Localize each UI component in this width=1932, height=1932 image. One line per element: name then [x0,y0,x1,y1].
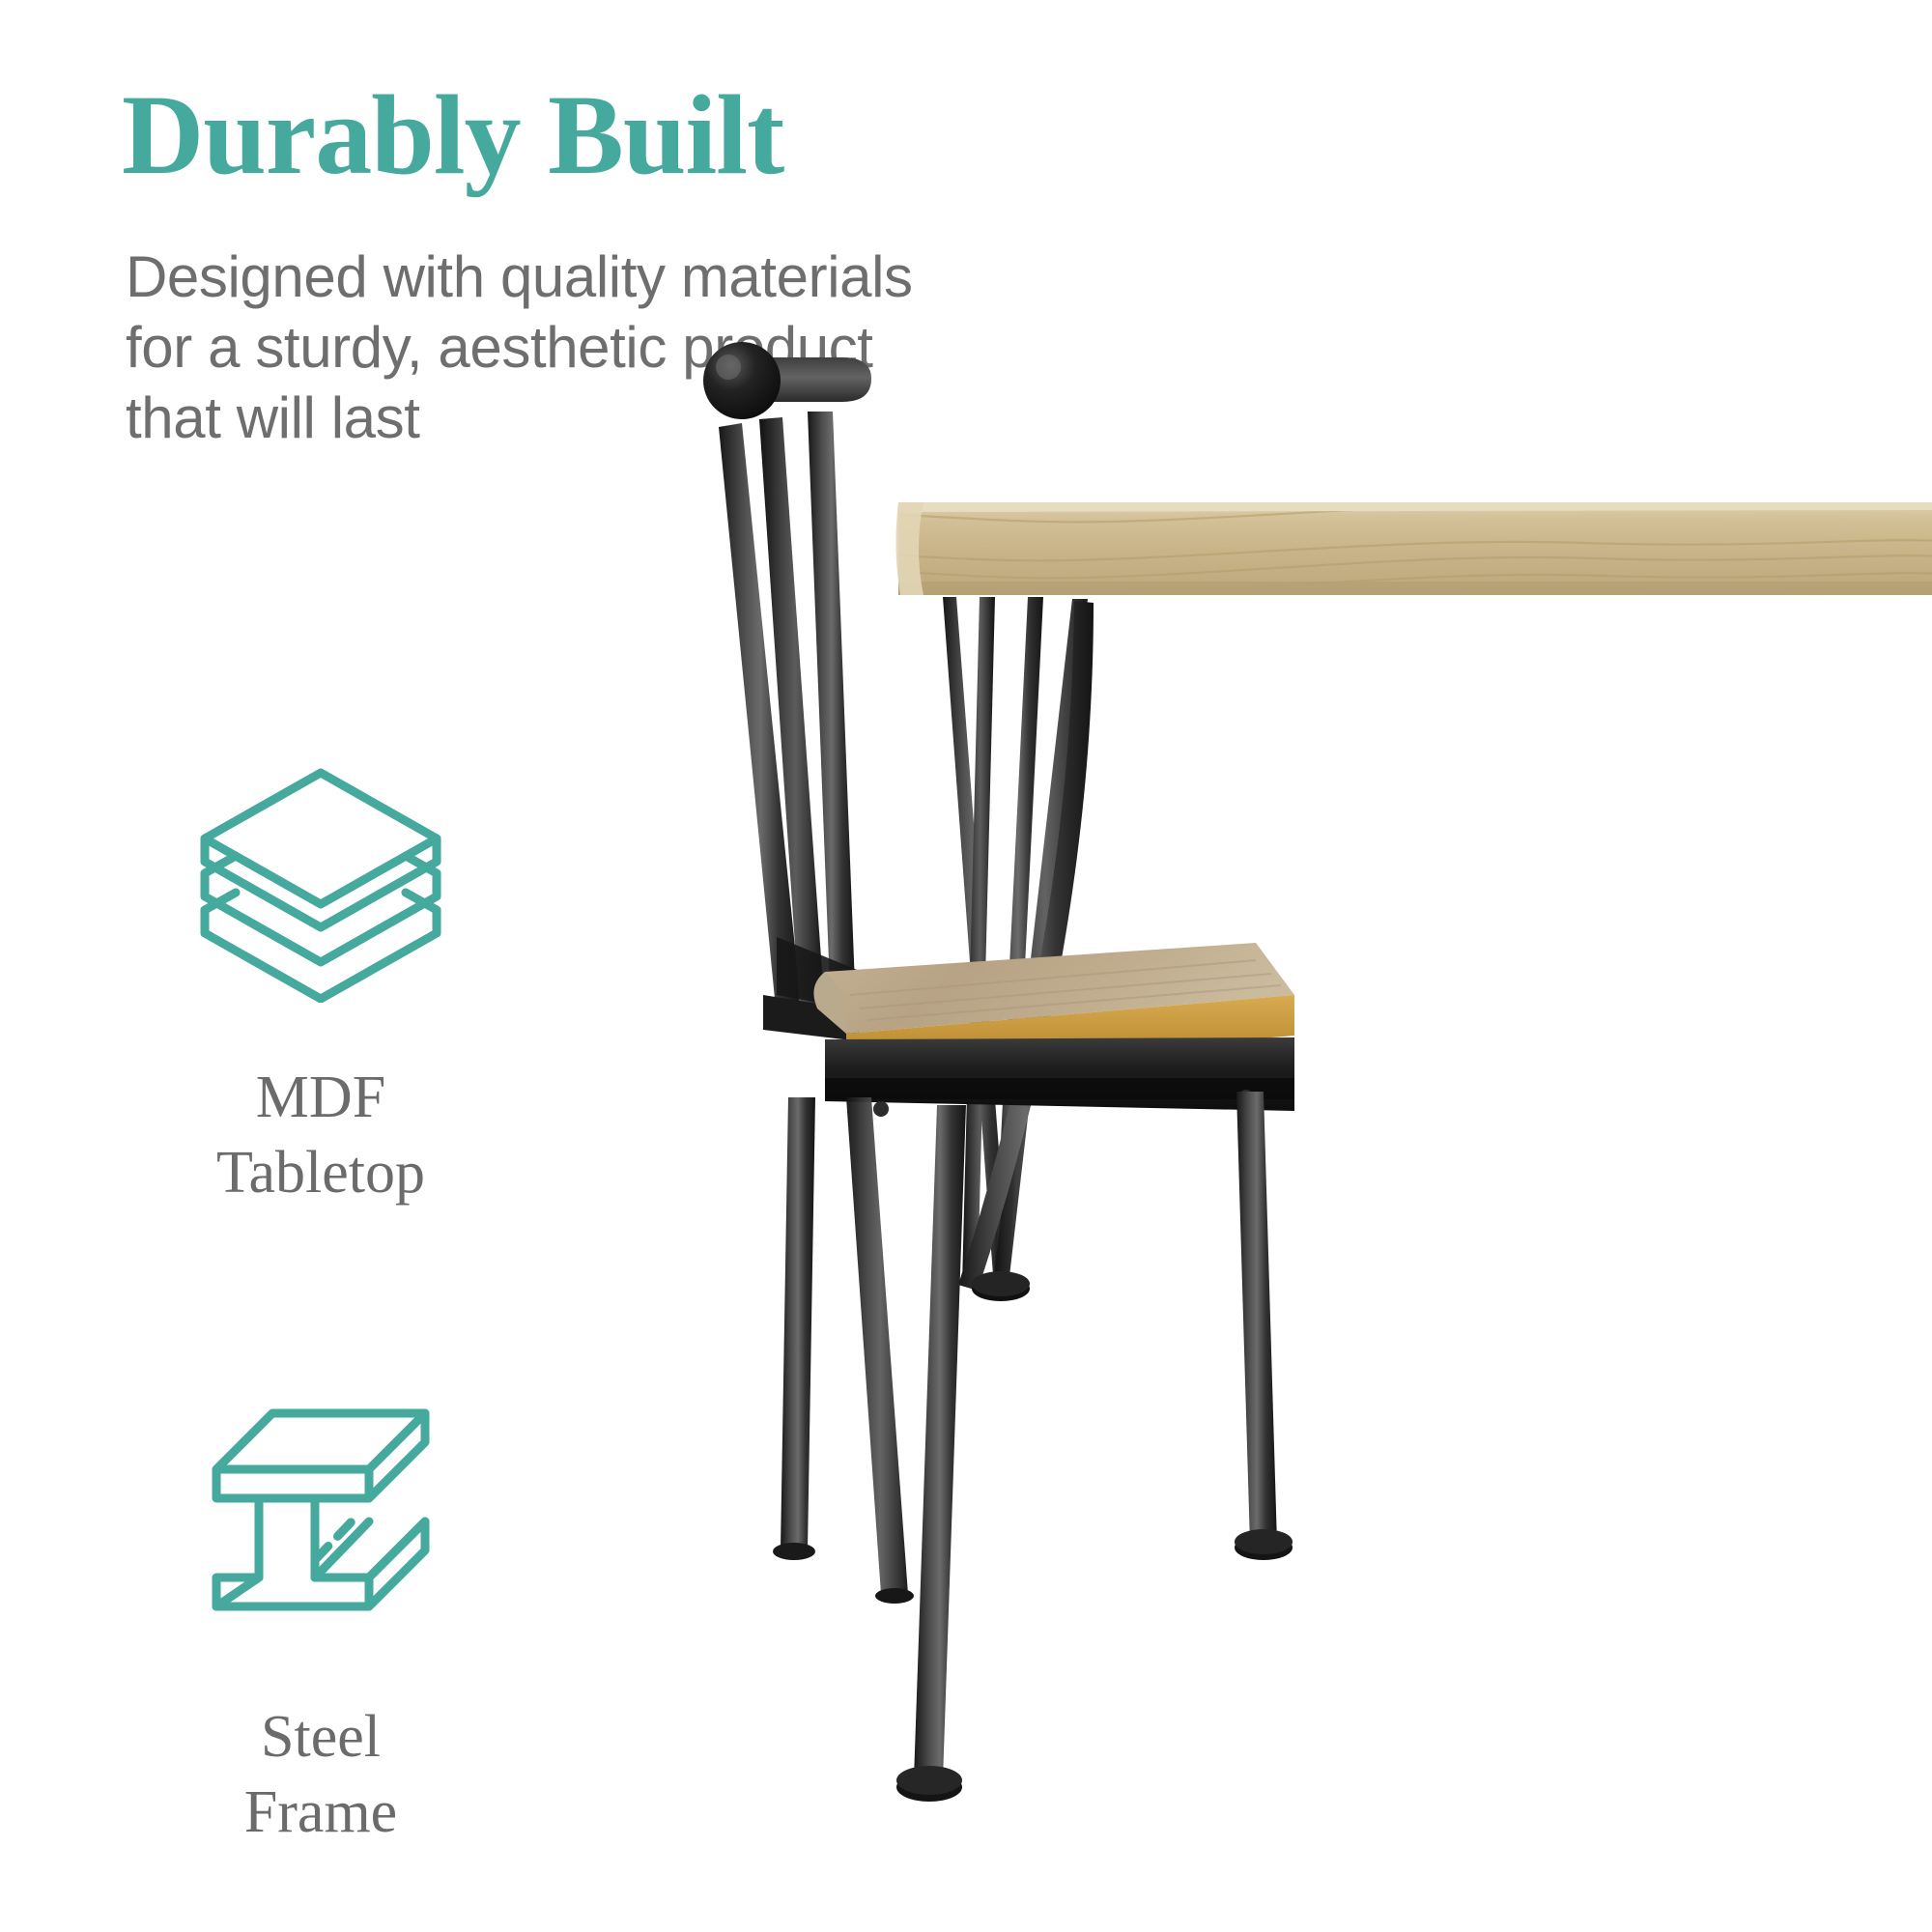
feature-caption-line-1: Steel [113,1700,528,1776]
feature-steel-frame: Steel Frame [113,1403,528,1850]
dining-table [895,502,1932,1301]
chair-backrest [703,342,871,1018]
table-top [895,502,1932,595]
product-photo [618,319,1932,1932]
feature-mdf-tabletop: MDF Tabletop [113,763,528,1210]
i-beam-icon [113,1403,528,1644]
marketing-infographic: Durably Built Designed with quality mate… [0,0,1932,1932]
chair-apron [825,1037,1294,1117]
feature-steel-frame-caption: Steel Frame [113,1700,528,1850]
feature-caption-line-1: MDF [113,1061,528,1136]
page-title: Durably Built [122,75,783,195]
table-legs [943,597,1094,1301]
chair-legs [773,1092,1293,1802]
feature-caption-line-2: Frame [113,1776,528,1851]
stacked-layers-icon [113,763,528,1005]
feature-caption-line-2: Tabletop [113,1136,528,1211]
chair-finial [703,342,781,419]
page-subtitle-line-1: Designed with quality materials [126,241,913,312]
feature-mdf-tabletop-caption: MDF Tabletop [113,1061,528,1210]
